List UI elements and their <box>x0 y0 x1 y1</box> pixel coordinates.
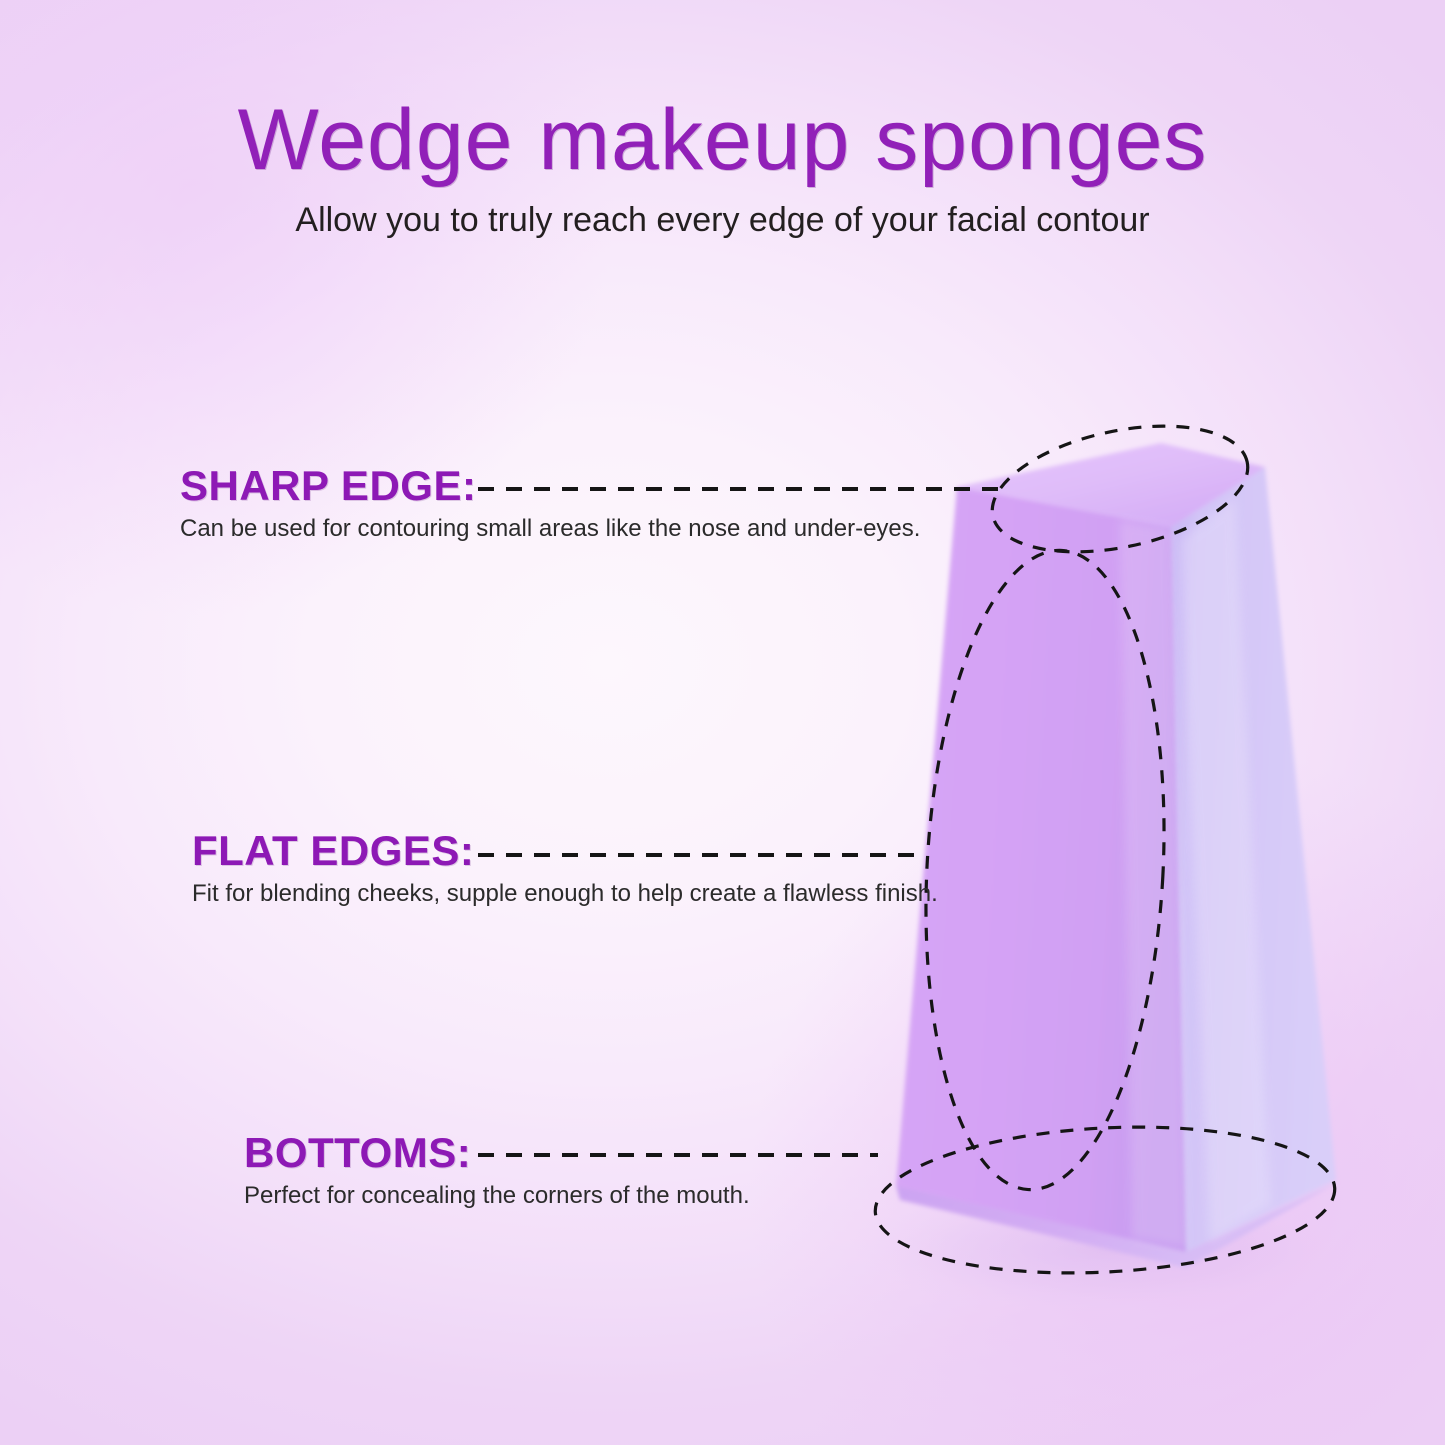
infographic-page: Wedge makeup sponges Allow you to truly … <box>0 0 1445 1445</box>
callout-bottoms-heading: BOTTOMS: <box>244 1130 750 1176</box>
callout-flat-edges-heading: FLAT EDGES: <box>192 828 938 874</box>
callout-flat-edges: FLAT EDGES: Fit for blending cheeks, sup… <box>192 828 938 909</box>
callout-sharp-edge-description: Can be used for contouring small areas l… <box>180 509 920 544</box>
callout-flat-edges-description: Fit for blending cheeks, supple enough t… <box>192 874 938 909</box>
page-title: Wedge makeup sponges <box>0 0 1445 188</box>
page-subtitle: Allow you to truly reach every edge of y… <box>0 188 1445 240</box>
callout-sharp-edge: SHARP EDGE: Can be used for contouring s… <box>180 463 920 544</box>
callout-bottoms: BOTTOMS: Perfect for concealing the corn… <box>244 1130 750 1211</box>
header: Wedge makeup sponges Allow you to truly … <box>0 0 1445 240</box>
callout-sharp-edge-heading: SHARP EDGE: <box>180 463 920 509</box>
callout-bottoms-description: Perfect for concealing the corners of th… <box>244 1176 750 1211</box>
